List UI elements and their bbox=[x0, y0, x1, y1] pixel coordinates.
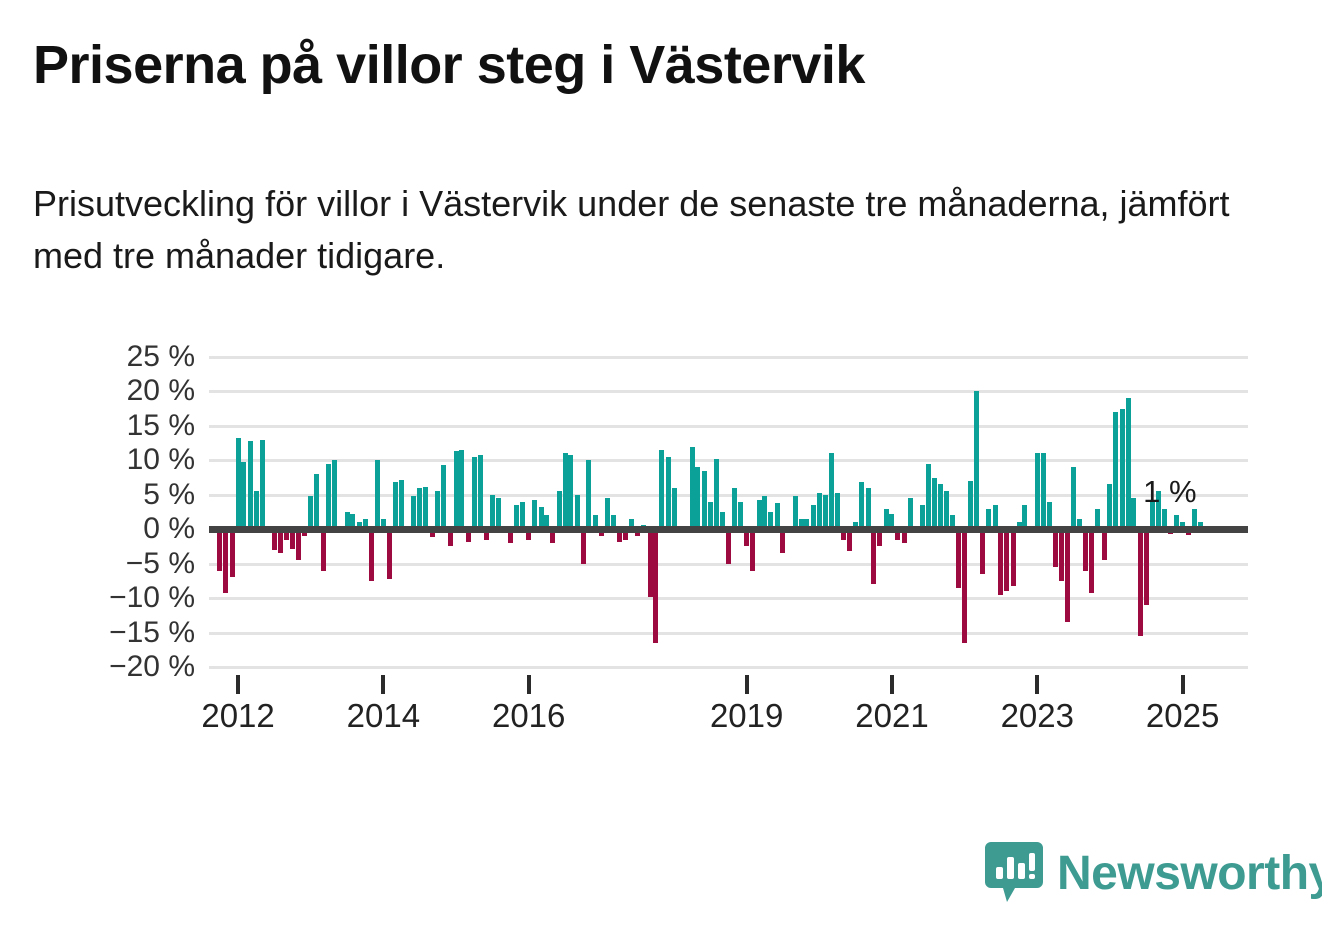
bar bbox=[726, 529, 731, 563]
bar bbox=[962, 529, 967, 643]
x-axis-tick-label: 2023 bbox=[1001, 697, 1074, 735]
x-axis-tick-label: 2019 bbox=[710, 697, 783, 735]
bar bbox=[296, 529, 301, 560]
bar bbox=[248, 441, 253, 529]
newsworthy-bar-chart-bubble-icon bbox=[985, 842, 1043, 904]
gridline bbox=[209, 459, 1248, 462]
bar bbox=[762, 496, 767, 529]
y-axis-tick-label: 0 % bbox=[75, 512, 195, 546]
bar bbox=[557, 491, 562, 529]
bar bbox=[326, 464, 331, 529]
bar bbox=[1144, 529, 1149, 605]
bar bbox=[308, 496, 313, 529]
gridline bbox=[209, 597, 1248, 600]
x-axis-tick-label: 2014 bbox=[347, 697, 420, 735]
bar bbox=[1053, 529, 1058, 567]
bar bbox=[695, 467, 700, 529]
y-axis-tick-label: 20 % bbox=[75, 374, 195, 408]
bar bbox=[472, 457, 477, 529]
newsworthy-logo: Newsworthy bbox=[985, 842, 1322, 904]
page-subtitle: Prisutveckling för villor i Västervik un… bbox=[33, 178, 1233, 282]
bar bbox=[1107, 484, 1112, 529]
bar bbox=[568, 455, 573, 529]
bar bbox=[1059, 529, 1064, 581]
zero-line bbox=[209, 526, 1248, 533]
bar bbox=[435, 491, 440, 529]
bar bbox=[586, 460, 591, 529]
y-axis-tick-label: −20 % bbox=[75, 650, 195, 684]
y-axis-tick-label: 25 % bbox=[75, 340, 195, 374]
y-axis-tick-label: 15 % bbox=[75, 409, 195, 443]
plot-area: 1 % bbox=[209, 357, 1248, 667]
bar bbox=[1071, 467, 1076, 529]
bar bbox=[732, 488, 737, 529]
bar bbox=[938, 484, 943, 529]
x-axis-tick-label: 2016 bbox=[492, 697, 565, 735]
x-axis: 2012201420162019202120232025 bbox=[209, 675, 1248, 735]
x-axis-tick bbox=[745, 675, 749, 694]
bar bbox=[1035, 453, 1040, 529]
page-title: Priserna på villor steg i Västervik bbox=[33, 34, 865, 96]
bar bbox=[666, 457, 671, 529]
y-axis-tick-label: −15 % bbox=[75, 616, 195, 650]
bar bbox=[702, 471, 707, 530]
gridline bbox=[209, 356, 1248, 359]
x-axis-tick-label: 2025 bbox=[1146, 697, 1219, 735]
bar bbox=[1083, 529, 1088, 570]
bar bbox=[998, 529, 1003, 594]
bar bbox=[459, 450, 464, 529]
bar bbox=[956, 529, 961, 588]
x-axis-tick bbox=[1035, 675, 1039, 694]
bar bbox=[417, 488, 422, 529]
bar-chart: 25 %20 %15 %10 %5 %0 %−5 %−10 %−15 %−20 … bbox=[0, 330, 1322, 740]
bar bbox=[980, 529, 985, 574]
bar bbox=[1011, 529, 1016, 585]
bar bbox=[478, 455, 483, 529]
x-axis-tick bbox=[236, 675, 240, 694]
bar bbox=[399, 480, 404, 530]
bar bbox=[738, 502, 743, 530]
bar bbox=[974, 391, 979, 529]
bar bbox=[690, 447, 695, 530]
gridline bbox=[209, 425, 1248, 428]
bar bbox=[823, 495, 828, 529]
bar bbox=[1089, 529, 1094, 593]
gridline bbox=[209, 632, 1248, 635]
y-axis-tick-label: 5 % bbox=[75, 478, 195, 512]
bar bbox=[944, 491, 949, 529]
bar bbox=[908, 498, 913, 529]
x-axis-tick bbox=[527, 675, 531, 694]
bar bbox=[750, 529, 755, 570]
bar bbox=[829, 453, 834, 529]
bar bbox=[520, 502, 525, 530]
bar bbox=[926, 464, 931, 529]
bar bbox=[241, 462, 246, 530]
bar bbox=[393, 482, 398, 529]
bar bbox=[653, 529, 658, 643]
bar bbox=[648, 529, 653, 597]
x-axis-tick bbox=[381, 675, 385, 694]
bar bbox=[369, 529, 374, 581]
bar bbox=[714, 459, 719, 529]
bar bbox=[236, 438, 241, 529]
bar bbox=[454, 451, 459, 529]
bar bbox=[1041, 453, 1046, 529]
bar bbox=[375, 460, 380, 529]
bar bbox=[223, 529, 228, 592]
bar bbox=[387, 529, 392, 579]
y-axis-tick-label: 10 % bbox=[75, 443, 195, 477]
bar bbox=[1120, 409, 1125, 530]
bar bbox=[866, 488, 871, 529]
bar bbox=[581, 529, 586, 563]
bar bbox=[932, 478, 937, 530]
bar bbox=[859, 482, 864, 529]
gridline bbox=[209, 390, 1248, 393]
y-axis-tick-label: −5 % bbox=[75, 547, 195, 581]
bar bbox=[230, 529, 235, 577]
last-value-annotation: 1 % bbox=[1143, 474, 1196, 510]
bar bbox=[1047, 502, 1052, 530]
x-axis-tick bbox=[1181, 675, 1185, 694]
gridline bbox=[209, 666, 1248, 669]
gridline bbox=[209, 494, 1248, 497]
bar bbox=[1138, 529, 1143, 636]
bar bbox=[411, 496, 416, 529]
bar bbox=[1126, 398, 1131, 529]
bar bbox=[321, 529, 326, 570]
bar bbox=[605, 498, 610, 529]
bar bbox=[659, 450, 664, 529]
bar bbox=[1102, 529, 1107, 560]
y-axis-labels: 25 %20 %15 %10 %5 %0 %−5 %−10 %−15 %−20 … bbox=[75, 357, 195, 667]
bar bbox=[968, 481, 973, 529]
bar bbox=[575, 495, 580, 529]
bar bbox=[708, 502, 713, 530]
bar bbox=[254, 491, 259, 529]
bar bbox=[1131, 498, 1136, 529]
y-axis-tick-label: −10 % bbox=[75, 581, 195, 615]
x-axis-tick bbox=[890, 675, 894, 694]
bar bbox=[793, 496, 798, 529]
bar bbox=[441, 465, 446, 529]
chart-page: Priserna på villor steg i Västervik Pris… bbox=[0, 0, 1322, 939]
bar bbox=[1065, 529, 1070, 622]
bar bbox=[260, 440, 265, 530]
bar bbox=[1113, 412, 1118, 529]
bar bbox=[496, 498, 501, 529]
newsworthy-wordmark: Newsworthy bbox=[1057, 846, 1322, 901]
bar bbox=[217, 529, 222, 570]
bar bbox=[672, 488, 677, 529]
x-axis-tick-label: 2021 bbox=[855, 697, 928, 735]
bar bbox=[332, 460, 337, 529]
x-axis-tick-label: 2012 bbox=[201, 697, 274, 735]
bar bbox=[1004, 529, 1009, 591]
bar bbox=[490, 495, 495, 529]
bar bbox=[757, 500, 762, 530]
bar bbox=[314, 474, 319, 529]
bar bbox=[871, 529, 876, 584]
bar bbox=[423, 487, 428, 530]
bar bbox=[563, 453, 568, 529]
bar bbox=[817, 493, 822, 530]
bar bbox=[835, 493, 840, 530]
bar bbox=[532, 500, 537, 530]
